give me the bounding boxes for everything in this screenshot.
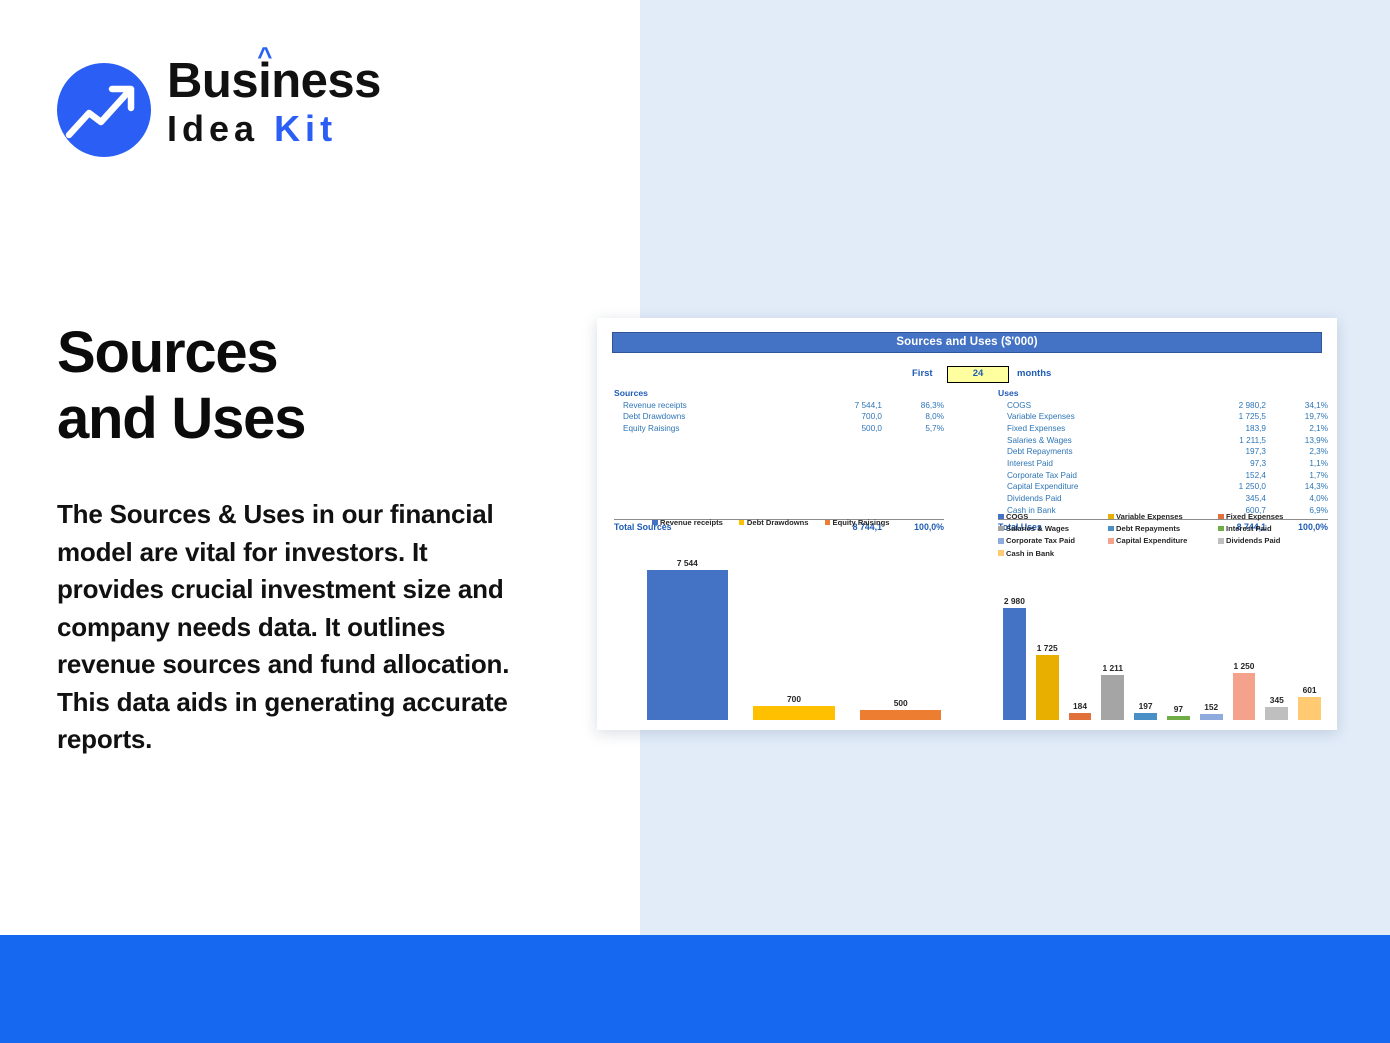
uses-row-percent: 14,3% (1270, 481, 1328, 493)
logo-word-idea: Idea (167, 108, 259, 149)
bar-data-label: 97 (1174, 704, 1183, 714)
legend-label: Equity Raisings (833, 518, 890, 527)
bar-group: 184 (1064, 552, 1097, 720)
legend-swatch-icon (1218, 514, 1224, 520)
sources-row-value: 500,0 (808, 423, 886, 435)
bar (753, 706, 834, 720)
uses-row-value: 183,9 (1192, 423, 1270, 435)
legend-swatch-icon (1218, 538, 1224, 544)
bar-group: 152 (1195, 552, 1228, 720)
months-unit-label: months (1017, 368, 1051, 379)
bar-data-label: 2 980 (1004, 596, 1025, 606)
sources-row-percent: 86,3% (886, 400, 944, 412)
legend-swatch-icon (998, 514, 1004, 520)
sources-row-value: 700,0 (808, 411, 886, 423)
uses-row-value: 1 725,5 (1192, 411, 1270, 423)
bar (1298, 697, 1321, 720)
sources-row-label: Debt Drawdowns (614, 411, 808, 423)
uses-row-percent: 1,1% (1270, 458, 1328, 470)
uses-row-percent: 1,7% (1270, 470, 1328, 482)
legend-item: Fixed Expenses (1218, 512, 1328, 521)
uses-row-percent: 34,1% (1270, 400, 1328, 412)
bar-group: 500 (847, 552, 954, 720)
logo-wordmark-business: Bus^iness (167, 55, 381, 107)
bar (860, 710, 941, 720)
legend-label: Debt Drawdowns (747, 518, 809, 527)
bar (1167, 716, 1190, 720)
bar-data-label: 700 (787, 694, 801, 704)
bar (647, 570, 728, 720)
bar-group: 7 544 (634, 552, 741, 720)
legend-label: Corporate Tax Paid (1006, 536, 1075, 545)
sources-row-percent: 8,0% (886, 411, 944, 423)
table-row: Debt Repayments197,32,3% (998, 446, 1328, 458)
bar (1003, 608, 1026, 720)
uses-row-label: Fixed Expenses (998, 423, 1192, 435)
page-title: Sources and Uses (57, 320, 577, 452)
bar (1101, 675, 1124, 721)
sources-table-spacer (614, 435, 944, 517)
uses-row-label: Variable Expenses (998, 411, 1192, 423)
legend-label: COGS (1006, 512, 1028, 521)
legend-item: COGS (998, 512, 1108, 521)
bar-group: 197 (1129, 552, 1162, 720)
bar (1233, 673, 1256, 720)
bar-data-label: 345 (1270, 695, 1284, 705)
table-row: Salaries & Wages1 211,513,9% (998, 435, 1328, 447)
legend-item: Capital Expenditure (1108, 536, 1218, 545)
sources-rows-table: Revenue receipts7 544,186,3%Debt Drawdow… (614, 400, 944, 435)
legend-item: Salaries & Wages (998, 524, 1108, 533)
table-row: COGS2 980,234,1% (998, 400, 1328, 412)
uses-row-percent: 2,1% (1270, 423, 1328, 435)
bar-data-label: 184 (1073, 701, 1087, 711)
sources-row-label: Revenue receipts (614, 400, 808, 412)
table-row: Fixed Expenses183,92,1% (998, 423, 1328, 435)
bar (1134, 713, 1157, 720)
bar-data-label: 500 (894, 698, 908, 708)
legend-item: Debt Drawdowns (739, 518, 809, 527)
uses-row-label: Debt Repayments (998, 446, 1192, 458)
uses-row-label: Corporate Tax Paid (998, 470, 1192, 482)
legend-label: Capital Expenditure (1116, 536, 1187, 545)
uses-row-value: 1 250,0 (1192, 481, 1270, 493)
uses-row-value: 1 211,5 (1192, 435, 1270, 447)
legend-item: Interest Paid (1218, 524, 1328, 533)
bar-group: 1 211 (1096, 552, 1129, 720)
bar-data-label: 7 544 (677, 558, 698, 568)
bar-group: 1 725 (1031, 552, 1064, 720)
brand-logo: Bus^iness Idea Kit (57, 55, 437, 155)
uses-row-value: 345,4 (1192, 493, 1270, 505)
bar-group: 1 250 (1228, 552, 1261, 720)
uses-row-label: COGS (998, 400, 1192, 412)
bar-data-label: 1 725 (1037, 643, 1058, 653)
bar (1200, 714, 1223, 720)
bar (1265, 707, 1288, 720)
logo-wordmark-idea-kit: Idea Kit (167, 109, 381, 149)
legend-item: Revenue receipts (652, 518, 723, 527)
legend-label: Dividends Paid (1226, 536, 1280, 545)
legend-swatch-icon (998, 538, 1004, 544)
circumflex-icon: ^ (257, 43, 272, 69)
bar-data-label: 601 (1303, 685, 1317, 695)
months-input[interactable]: 24 (947, 366, 1009, 383)
spreadsheet-screenshot-card: Sources and Uses ($'000) First 24 months… (597, 318, 1337, 730)
sources-row-label: Equity Raisings (614, 423, 808, 435)
bottom-blue-bar (0, 935, 1390, 1043)
sheet-title-bar: Sources and Uses ($'000) (612, 332, 1322, 353)
bar-group: 700 (741, 552, 848, 720)
legend-swatch-icon (1108, 538, 1114, 544)
legend-item: Debt Repayments (1108, 524, 1218, 533)
legend-swatch-icon (1108, 526, 1114, 532)
table-row: Variable Expenses1 725,519,7% (998, 411, 1328, 423)
logo-word-kit: Kit (274, 108, 337, 149)
table-row: Corporate Tax Paid152,41,7% (998, 470, 1328, 482)
bar (1036, 655, 1059, 720)
logo-word-bus: Bus (167, 54, 258, 108)
sources-row-percent: 5,7% (886, 423, 944, 435)
uses-row-percent: 13,9% (1270, 435, 1328, 447)
table-row: Dividends Paid345,44,0% (998, 493, 1328, 505)
table-row: Revenue receipts7 544,186,3% (614, 400, 944, 412)
uses-row-label: Capital Expenditure (998, 481, 1192, 493)
legend-swatch-icon (825, 520, 831, 526)
uses-row-percent: 19,7% (1270, 411, 1328, 423)
sources-table: Sources Revenue receipts7 544,186,3%Debt… (614, 388, 944, 534)
legend-item: Equity Raisings (825, 518, 890, 527)
uses-row-value: 152,4 (1192, 470, 1270, 482)
bar-data-label: 152 (1204, 702, 1218, 712)
logo-word-ness: ness (271, 54, 381, 108)
uses-chart-legend: COGSVariable ExpensesFixed ExpensesSalar… (998, 512, 1328, 558)
legend-swatch-icon (652, 520, 658, 526)
first-label: First (912, 368, 933, 379)
uses-row-percent: 2,3% (1270, 446, 1328, 458)
legend-item: Corporate Tax Paid (998, 536, 1108, 545)
uses-rows-table: COGS2 980,234,1%Variable Expenses1 725,5… (998, 400, 1328, 517)
uses-table-header: Uses (998, 388, 1328, 400)
uses-row-value: 97,3 (1192, 458, 1270, 470)
uses-row-percent: 4,0% (1270, 493, 1328, 505)
legend-item: Dividends Paid (1218, 536, 1328, 545)
sources-chart-legend: Revenue receiptsDebt DrawdownsEquity Rai… (652, 518, 952, 527)
legend-label: Debt Repayments (1116, 524, 1180, 533)
table-row: Interest Paid97,31,1% (998, 458, 1328, 470)
sources-bar-chart: 7 544700500 (634, 552, 954, 720)
uses-row-label: Salaries & Wages (998, 435, 1192, 447)
bar-group: 345 (1260, 552, 1293, 720)
bar-group: 97 (1162, 552, 1195, 720)
legend-label: Revenue receipts (660, 518, 723, 527)
page-description: The Sources & Uses in our financial mode… (57, 496, 512, 759)
table-row: Capital Expenditure1 250,014,3% (998, 481, 1328, 493)
uses-row-label: Interest Paid (998, 458, 1192, 470)
uses-bar-chart: 2 9801 7251841 211197971521 250345601 (998, 552, 1326, 720)
bar-group: 2 980 (998, 552, 1031, 720)
legend-swatch-icon (739, 520, 745, 526)
legend-label: Fixed Expenses (1226, 512, 1283, 521)
logo-letter-i-with-circumflex: ^i (258, 55, 271, 107)
uses-row-value: 2 980,2 (1192, 400, 1270, 412)
bar-data-label: 1 250 (1233, 661, 1254, 671)
legend-label: Interest Paid (1226, 524, 1272, 533)
uses-row-value: 197,3 (1192, 446, 1270, 458)
table-row: Equity Raisings500,05,7% (614, 423, 944, 435)
legend-swatch-icon (998, 526, 1004, 532)
bar-data-label: 1 211 (1103, 663, 1124, 673)
legend-item: Variable Expenses (1108, 512, 1218, 521)
bar (1069, 713, 1092, 720)
legend-swatch-icon (1108, 514, 1114, 520)
months-input-row: First 24 months (612, 368, 1320, 383)
bar-data-label: 197 (1139, 701, 1153, 711)
table-row: Debt Drawdowns700,08,0% (614, 411, 944, 423)
bar-group: 601 (1293, 552, 1326, 720)
uses-row-label: Dividends Paid (998, 493, 1192, 505)
legend-label: Salaries & Wages (1006, 524, 1069, 533)
sources-row-value: 7 544,1 (808, 400, 886, 412)
growth-arrow-chart-icon (57, 63, 151, 157)
sources-table-header: Sources (614, 388, 944, 400)
legend-swatch-icon (1218, 526, 1224, 532)
legend-label: Variable Expenses (1116, 512, 1183, 521)
